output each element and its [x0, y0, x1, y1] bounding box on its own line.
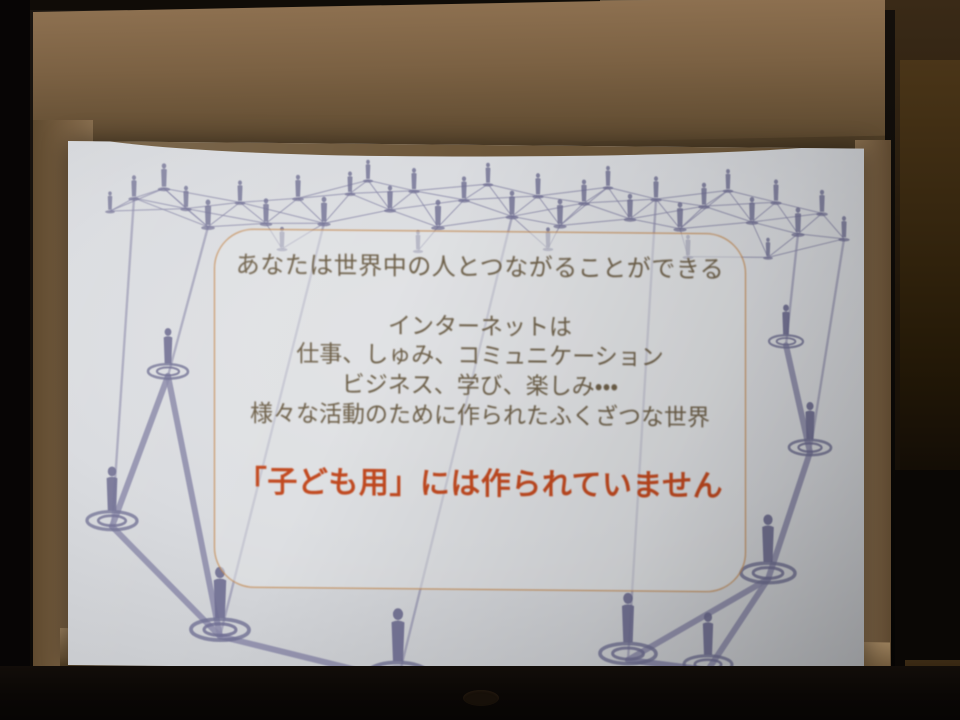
screen-frame-left-edge	[0, 0, 30, 720]
slide-emphasis-line: 「子ども用」には作られていません	[237, 457, 723, 506]
body-line-1: インターネットは	[250, 309, 710, 343]
projection-spill-top	[33, 0, 885, 152]
screenshot-root: あなたは世界中の人とつながることができる インターネットは 仕事、しゅみ、コミュ…	[0, 0, 960, 720]
slide-textbox: あなたは世界中の人とつながることができる インターネットは 仕事、しゅみ、コミュ…	[214, 228, 746, 592]
screen-pull-handle	[463, 690, 499, 706]
body-line-4: 様々な活動のために作られたふくざつな世界	[250, 399, 710, 433]
body-line-3: ビジネス、学び、楽しみ・・・	[250, 369, 710, 403]
slide-headline: あなたは世界中の人とつながることができる	[236, 252, 725, 284]
projected-slide: あなたは世界中の人とつながることができる インターネットは 仕事、しゅみ、コミュ…	[68, 141, 864, 673]
slide-body: インターネットは 仕事、しゅみ、コミュニケーション ビジネス、学び、楽しみ・・・…	[250, 309, 710, 433]
body-line-2: 仕事、しゅみ、コミュニケーション	[250, 339, 710, 373]
right-wall-panel	[900, 60, 960, 480]
